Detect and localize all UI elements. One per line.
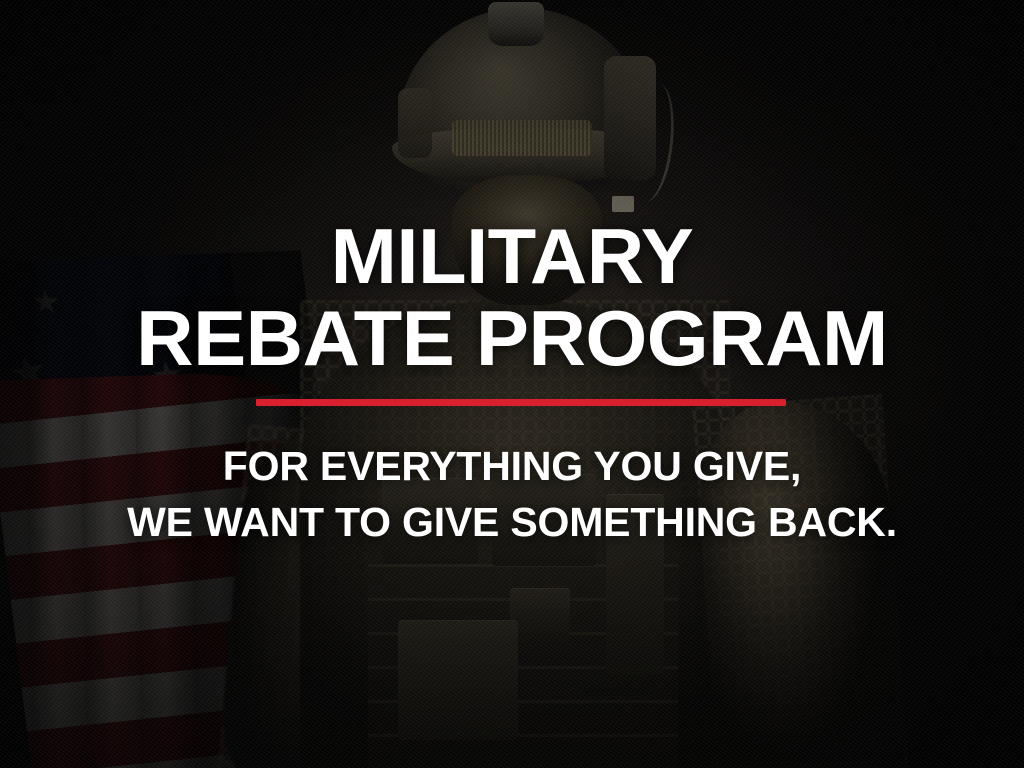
accent-divider-rule xyxy=(256,399,786,406)
text-overlay: MILITARY REBATE PROGRAM FOR EVERYTHING Y… xyxy=(0,0,1024,768)
headline-line-2: REBATE PROGRAM xyxy=(0,300,1024,376)
poster-canvas: MILITARY REBATE PROGRAM FOR EVERYTHING Y… xyxy=(0,0,1024,768)
headline-line-1: MILITARY xyxy=(0,218,1024,294)
subhead-line-2: WE WANT TO GIVE SOMETHING BACK. xyxy=(0,502,1024,543)
subhead-line-1: FOR EVERYTHING YOU GIVE, xyxy=(0,446,1024,487)
